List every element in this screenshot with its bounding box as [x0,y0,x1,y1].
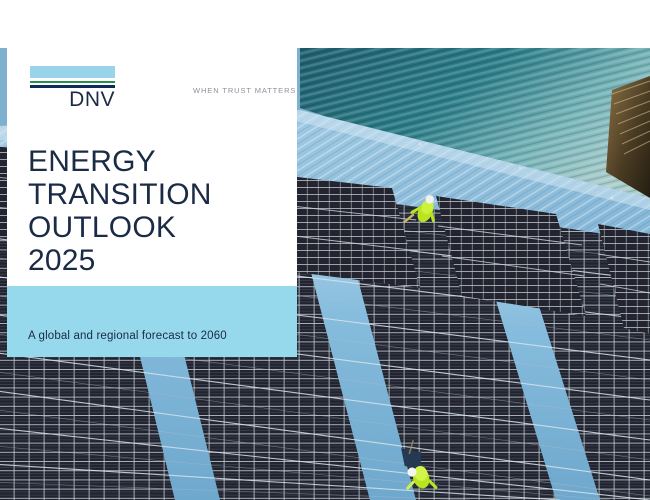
title-line-3: OUTLOOK [28,211,212,244]
title-line-1: ENERGY [28,145,212,178]
logo-bar-light-blue-icon [30,66,115,78]
brand-tagline: WHEN TRUST MATTERS [193,86,296,95]
subtitle-band [7,286,297,357]
logo-bar-green-icon [30,81,115,83]
logo-wordmark: DNV [30,89,115,111]
cover-subtitle: A global and regional forecast to 2060 [28,330,227,342]
title-line-4: 2025 [28,244,212,277]
panel-top-bleed [0,0,7,46]
title-line-2: TRANSITION [28,178,212,211]
report-cover: DNV WHEN TRUST MATTERS ENERGY TRANSITION… [0,0,650,500]
dnv-logo: DNV [30,66,115,111]
cover-title: ENERGY TRANSITION OUTLOOK 2025 [28,145,212,277]
